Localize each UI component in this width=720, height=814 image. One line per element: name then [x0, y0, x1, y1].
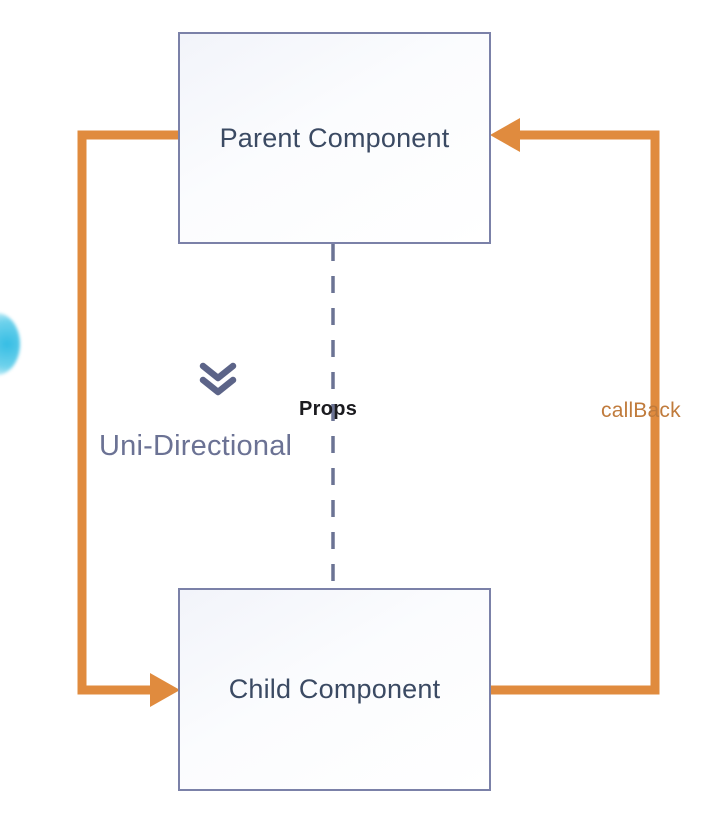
node-parent-component-label: Parent Component [220, 123, 450, 154]
chevron-double-down-icon [196, 357, 240, 401]
node-child-component-label: Child Component [229, 674, 441, 705]
node-child-component[interactable]: Child Component [178, 588, 491, 791]
node-parent-component[interactable]: Parent Component [178, 32, 491, 244]
edge-label-uni-directional: Uni-Directional [99, 430, 292, 463]
edge-label-props: Props [299, 398, 357, 421]
edge-label-callback: callBack [601, 399, 681, 423]
uni-directional-connector [82, 135, 180, 707]
diagram-canvas: Parent Component Child Component Props U… [0, 0, 720, 814]
